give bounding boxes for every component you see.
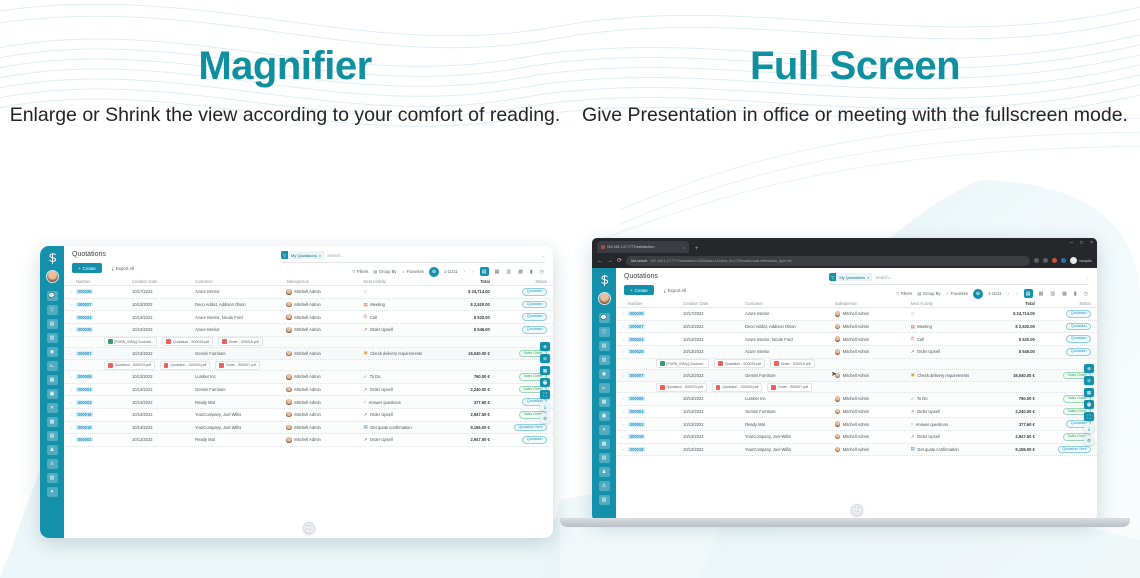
activity-view-button[interactable]: ◷ (539, 269, 545, 275)
bookmark-star-icon[interactable] (1034, 258, 1039, 263)
row-status: Quotation (1035, 323, 1091, 331)
attachment-chip[interactable]: [FURN_00My] Customi... (104, 337, 157, 346)
row-next-activity: ↗Order Upsell (364, 437, 441, 443)
magnifier-button[interactable]: ⊕ (973, 289, 983, 299)
row-number-link[interactable]: S00018 (76, 425, 93, 430)
row-customer: Azure Interior, Nicole Ford (745, 337, 835, 342)
sidebar-item-recruitment[interactable]: ♙ (47, 459, 58, 469)
column-status[interactable]: Status (490, 279, 547, 284)
favorites-label: Favorites (407, 269, 424, 274)
create-button-label: Create (635, 288, 648, 293)
row-creation-date: 10/17/2022 (132, 289, 195, 294)
attachment-chip[interactable]: Quotation - S00025.pdf (162, 337, 213, 346)
list-view-button[interactable]: ▤ (1024, 289, 1033, 298)
sidebar-item-employees[interactable]: ♟ (47, 445, 58, 455)
row-number-link[interactable]: S00018 (628, 447, 645, 452)
row-salesperson: Mitchell Admin (286, 425, 363, 431)
search-facet[interactable]: ▽ My Quotations × (281, 251, 324, 259)
table-row[interactable]: ○S0001910/13/2022YourCompany, Joel Willi… (64, 409, 553, 422)
search-input[interactable]: Search... (875, 275, 1082, 280)
column-next-activity[interactable]: Next Activity (364, 279, 441, 284)
minimize-icon[interactable]: ─ (1070, 240, 1074, 246)
crm-icon: ✕ (50, 405, 54, 411)
table-row[interactable]: ○S0002510/13/2022Azure InteriorMitchell … (616, 346, 1097, 359)
filters-label: Filters (901, 291, 912, 296)
row-number-link[interactable]: S00002 (76, 437, 93, 442)
export-all-label: Export All (116, 266, 135, 271)
column-salesperson[interactable]: Salesperson (286, 279, 363, 284)
table-row[interactable]: ○S0000410/13/2022Gemini FurnitureMitchel… (616, 406, 1097, 419)
browser-extensions: Incognito (1034, 257, 1092, 264)
table-row[interactable]: ○S0000310/13/2022Ready MatMitchell Admin… (64, 396, 553, 409)
answer-icon: ? (364, 400, 366, 405)
star-icon: ☆ (946, 291, 950, 296)
filter-icon: ▽ (829, 275, 836, 280)
zoom-in-tool[interactable]: ⊕ (540, 342, 550, 351)
attachment-chip[interactable]: [FURN_00My] Customi... (656, 359, 709, 368)
filter-icon: ▽ (281, 253, 288, 258)
column-creation-date[interactable]: Creation Date (132, 279, 195, 284)
sidebar-item-website[interactable]: ▩ (599, 439, 610, 449)
create-button[interactable]: + Create (72, 263, 102, 273)
row-salesperson: Mitchell Admin (286, 412, 363, 418)
search-row: ▽ My Quotations × Search... ⌄ (829, 273, 1089, 285)
salesperson-name: Mitchell Admin (843, 396, 869, 401)
heading-subtitle-fullscreen: Give Presentation in office or meeting w… (570, 102, 1140, 130)
table-row[interactable]: ○S0002710/13/2022Deco Addict, Addison Ol… (64, 299, 553, 312)
attachment-chip[interactable]: Order - S00015.pdf (770, 359, 814, 368)
attachment-chip[interactable]: Order - S00015.pdf (218, 337, 262, 346)
filter-icon: ▽ (352, 269, 355, 274)
sidebar-item-purchase[interactable]: ▤ (47, 431, 58, 441)
row-creation-date: 10/13/2022 (132, 315, 195, 320)
print-tool[interactable]: 🖶 (540, 378, 550, 387)
fullscreen-fab-right[interactable]: ⛶ (851, 504, 863, 516)
attachment-chip[interactable]: Quotation - S00025.pdf (714, 359, 765, 368)
upsell-icon: ↗ (364, 327, 368, 333)
address-bar-url: 192.168.1.47:7777/web#action=282&cids=1&… (650, 259, 791, 263)
pdf-file-icon (716, 385, 721, 390)
column-total[interactable]: Total (986, 301, 1034, 306)
forward-icon[interactable]: → (607, 258, 613, 264)
filters-button[interactable]: ▽ Filters (352, 269, 368, 274)
pdf-file-icon (660, 385, 665, 390)
grid-tool[interactable]: ▦ (540, 366, 550, 375)
row-number: S00025 (76, 327, 132, 332)
settings-tool[interactable]: ⚙ (540, 414, 550, 423)
row-total: 760.00 € (986, 396, 1034, 401)
export-all-button[interactable]: ⤓ Export All (660, 285, 691, 295)
group-by-label: Group By (379, 269, 397, 274)
confirm-icon: ▤ (364, 424, 368, 430)
sidebar-item-purchase[interactable]: ▤ (599, 453, 610, 463)
row-customer: Azure Interior (745, 349, 835, 354)
activity-label: To Do (370, 374, 381, 379)
column-creation-date[interactable]: Creation Date (683, 301, 745, 306)
row-number-link[interactable]: S00024 (76, 315, 93, 320)
row-salesperson: Mitchell Admin (286, 302, 363, 308)
sidebar-item-helpdesk[interactable]: ▨ (47, 473, 58, 483)
sidebar-item-calendar[interactable]: ▤ (599, 341, 610, 351)
row-number-link[interactable]: S00026 (76, 289, 93, 294)
group-by-button[interactable]: ▤ Group By (373, 269, 396, 274)
avatar[interactable] (46, 270, 59, 283)
row-next-activity: ↗Order Upsell (364, 327, 441, 333)
salesperson-name: Mitchell Admin (294, 289, 320, 294)
calendar-view-button[interactable]: ▥ (505, 269, 512, 275)
fullscreen-tool[interactable]: ⛶ (540, 390, 550, 399)
column-status[interactable]: Status (1035, 301, 1091, 306)
contacts-icon: ▥ (602, 357, 607, 363)
purchase-icon: ▤ (602, 455, 607, 461)
row-next-activity: ?Answer questions (364, 400, 441, 405)
attachment-label: [FURN_00My] Customi... (115, 340, 154, 344)
window-controls: ─ □ × (1070, 240, 1094, 246)
extension-icon[interactable] (1061, 258, 1066, 263)
avatar (835, 336, 841, 342)
pivot-view-button[interactable]: ▩ (517, 269, 524, 275)
website-icon: ▩ (602, 441, 607, 447)
upsell-icon: ↗ (911, 349, 915, 355)
attachment-chip[interactable]: Quotation - S00015.pdf (160, 361, 211, 370)
sidebar-item-website[interactable]: ▩ (47, 417, 58, 427)
tablet-mockup-magnifier: 💬 ▽ ▤ ▥ ◉ ⊾ ▦ ▣ ✕ ▩ ▤ ♟ ♙ ▨ ✦ Quotations… (40, 246, 553, 538)
row-total: $ 24,714.00 (986, 311, 1034, 316)
extension-icon[interactable] (1043, 258, 1048, 263)
sidebar-item-recruitment[interactable]: ♙ (599, 481, 610, 491)
table-row[interactable]: ○S0002610/17/2022Azure InteriorMitchell … (64, 286, 553, 299)
column-salesperson[interactable]: Salesperson (835, 301, 911, 306)
search-row: ▽ My Quotations × Search... ⌄ (281, 251, 545, 263)
row-status: Quotation (490, 313, 547, 321)
table-row[interactable]: ○S0000310/13/2022Ready MatMitchell Admin… (616, 418, 1097, 431)
close-icon[interactable]: × (1090, 240, 1093, 246)
row-number: S00018 (628, 447, 683, 452)
row-salesperson: Mitchell Admin (835, 434, 911, 440)
status-badge: Quotation Sent (1058, 446, 1091, 454)
address-bar[interactable]: Not secure 192.168.1.47:7777/web#action=… (626, 256, 1030, 266)
graph-view-button[interactable]: ▮ (1073, 291, 1078, 297)
zoom-out-tool[interactable]: ⊖ (1084, 376, 1094, 385)
invoicing-icon: ▣ (602, 413, 607, 419)
headings-row: Magnifier Enlarge or Shrink the view acc… (0, 0, 1140, 200)
row-number: S00026 (76, 289, 132, 294)
row-customer: Gemini Furniture (195, 387, 286, 392)
table-row[interactable]: ○S0002410/13/2022Azure Interior, Nicole … (616, 333, 1097, 346)
row-customer: Ready Mat (195, 437, 286, 442)
column-number[interactable]: Number (628, 301, 683, 306)
export-all-button[interactable]: ⤓ Export All (108, 263, 139, 273)
row-salesperson: Mitchell Admin (835, 373, 911, 379)
crm-icon: ✕ (602, 427, 606, 433)
row-status: Quotation (490, 301, 547, 309)
group-icon: ▤ (373, 269, 377, 274)
create-button[interactable]: + Create (624, 285, 654, 295)
row-number-link[interactable]: S00024 (628, 337, 645, 342)
row-number-link[interactable]: S00027 (628, 324, 645, 329)
sidebar-item-filter[interactable]: ▽ (599, 327, 610, 337)
answer-icon: ? (911, 422, 913, 427)
row-creation-date: 10/13/2022 (132, 400, 195, 405)
pager-prev-button[interactable]: ‹ (463, 269, 467, 274)
row-number-link[interactable]: S00025 (628, 349, 645, 354)
sidebar-item-invoicing[interactable]: ▣ (47, 389, 58, 399)
table-row[interactable]: ○S0001810/13/2022YourCompany, Joel Willi… (64, 422, 553, 435)
row-creation-date: 10/13/2022 (683, 409, 745, 414)
row-number-link[interactable]: S00007 (76, 351, 93, 356)
sidebar-item-helpdesk[interactable]: ▨ (599, 495, 610, 505)
row-number-link[interactable]: S00003 (628, 422, 645, 427)
row-number-link[interactable]: S00003 (76, 400, 93, 405)
view-toolbar: ▽ Filters ▤ Group By ☆ Favorites ⊕ 1-11/… (281, 267, 545, 277)
kanban-view-button[interactable]: ▦ (494, 269, 501, 275)
column-number[interactable]: Number (76, 279, 132, 284)
table-body-left: ○S0002610/17/2022Azure InteriorMitchell … (64, 286, 553, 447)
close-icon[interactable]: × (319, 253, 321, 258)
activity-label: Meeting (917, 324, 932, 329)
row-total: 2,947.50 € (441, 412, 490, 417)
browser-tab[interactable]: 192.168.1.47:7777/web#action= × (597, 241, 689, 253)
favorites-button[interactable]: ☆ Favorites (946, 291, 969, 296)
salesperson-name: Mitchell Admin (843, 447, 869, 452)
meeting-icon: ▤ (364, 302, 368, 308)
sidebar-item-calendar[interactable]: ▤ (47, 319, 58, 329)
list-view-button[interactable]: ▤ (480, 267, 489, 276)
row-number-link[interactable]: S00007 (628, 373, 645, 378)
sidebar-item-settings[interactable]: ◉ (47, 347, 58, 357)
salesperson-name: Mitchell Admin (843, 337, 869, 342)
fullscreen-fab-left[interactable]: ⛶ (303, 522, 315, 534)
row-number-link[interactable]: S00004 (628, 409, 645, 414)
grid-tool[interactable]: ▦ (1084, 388, 1094, 397)
reload-icon[interactable]: ⟳ (617, 257, 622, 264)
row-number-link[interactable]: S00025 (76, 327, 93, 332)
table-row[interactable]: ○S0000710/13/2022Gemini FurnitureMitchel… (616, 370, 1097, 383)
avatar[interactable] (598, 292, 611, 305)
apps-icon: ✦ (50, 489, 54, 495)
column-next-activity[interactable]: Next Activity (911, 301, 987, 306)
salesperson-name: Mitchell Admin (294, 327, 320, 332)
favicon-icon (601, 245, 605, 249)
row-number: S00018 (76, 425, 132, 430)
answer-icon: ▣ (364, 350, 368, 356)
row-next-activity: ✓To Do (364, 374, 441, 380)
row-number-link[interactable]: S00006 (628, 396, 645, 401)
avatar (835, 396, 841, 402)
table-row[interactable]: ○S0002410/13/2022Azure Interior, Nicole … (64, 311, 553, 324)
row-salesperson: Mitchell Admin (835, 409, 911, 415)
attachment-chip[interactable]: Quotation - S00023.pdf (656, 383, 707, 392)
row-next-activity: ◷ (911, 311, 987, 317)
table-row[interactable]: ○S0000410/13/2022Gemini FurnitureMitchel… (64, 384, 553, 397)
activity-label: To Do (917, 396, 928, 401)
row-status: Quotation Sent (490, 424, 547, 432)
helpdesk-icon: ▨ (50, 475, 55, 481)
row-total: $ 2,520.00 (441, 302, 490, 307)
table-row[interactable]: ○S0002510/13/2022Azure InteriorMitchell … (64, 324, 553, 337)
salesperson-name: Mitchell Admin (843, 434, 869, 439)
plus-icon: + (630, 288, 633, 293)
row-number-link[interactable]: S00027 (76, 302, 93, 307)
row-status: Sales Order (490, 411, 547, 419)
calendar-view-button[interactable]: ▥ (1049, 291, 1056, 297)
sidebar-item-filter[interactable]: ▽ (47, 305, 58, 315)
sidebar-item-messages[interactable]: 💬 (599, 313, 610, 323)
row-customer: YourCompany, Joel Willis (745, 434, 835, 439)
row-salesperson: Mitchell Admin (835, 324, 911, 330)
pdf-file-icon (219, 363, 224, 368)
table-row[interactable]: ○S0001910/13/2022YourCompany, Joel Willi… (616, 431, 1097, 444)
table-row[interactable]: ○S0002610/17/2022Azure InteriorMitchell … (616, 308, 1097, 321)
row-next-activity: ▣Check delivery requirements (364, 350, 441, 356)
row-status: Sales Order (490, 386, 547, 394)
export-tool[interactable]: ⤓ (540, 402, 550, 411)
print-tool[interactable]: 🖶 (1084, 400, 1094, 409)
close-icon[interactable]: × (867, 275, 869, 280)
sidebar-item-reports[interactable]: ⊾ (47, 361, 58, 371)
sidebar-item-employees[interactable]: ♟ (599, 467, 610, 477)
back-icon[interactable]: ← (597, 258, 603, 264)
maximize-icon[interactable]: □ (1080, 240, 1083, 246)
fullscreen-tool[interactable]: ⛶ (1084, 412, 1094, 421)
inventory-icon: ▦ (50, 377, 55, 383)
table-row[interactable]: ○S0000210/13/2022Ready MatMitchell Admin… (64, 434, 553, 447)
employees-icon: ♟ (602, 469, 606, 475)
row-number: S00004 (76, 387, 132, 392)
employees-icon: ♟ (50, 447, 54, 453)
new-tab-button[interactable]: + (691, 246, 703, 253)
settings-tool[interactable]: ⚙ (1084, 436, 1094, 445)
export-tool[interactable]: ⤓ (1084, 424, 1094, 433)
profile-chip[interactable]: Incognito (1070, 257, 1092, 264)
filters-label: Filters (357, 269, 368, 274)
kanban-view-button[interactable]: ▦ (1038, 291, 1045, 297)
extension-icon[interactable] (1052, 258, 1057, 263)
sidebar-item-crm[interactable]: ✕ (47, 403, 58, 413)
search-input[interactable]: Search... (327, 253, 538, 258)
sidebar-item-apps[interactable]: ✦ (47, 487, 58, 497)
row-salesperson: Mitchell Admin (835, 396, 911, 402)
row-number-link[interactable]: S00019 (76, 412, 93, 417)
row-total: $ 520.00 (441, 315, 490, 320)
sidebar-item-settings[interactable]: ◉ (599, 369, 610, 379)
row-creation-date: 10/13/2022 (132, 387, 195, 392)
attachment-chip[interactable]: Quotation - S00015.pdf (712, 383, 763, 392)
sidebar-item-messages[interactable]: 💬 (47, 291, 58, 301)
table-row[interactable]: ○S0000610/13/2022Lumber IncMitchell Admi… (616, 393, 1097, 406)
row-customer: Azure Interior, Nicole Ford (195, 315, 286, 320)
sidebar-item-reports[interactable]: ⊾ (599, 383, 610, 393)
zoom-in-tool[interactable]: ⊕ (1084, 364, 1094, 373)
pdf-file-icon (222, 339, 227, 344)
reports-icon: ⊾ (602, 385, 606, 391)
activity-view-button[interactable]: ◷ (1083, 291, 1089, 297)
avatar (835, 349, 841, 355)
sidebar-item-inventory[interactable]: ▦ (599, 397, 610, 407)
chevron-down-icon[interactable]: ⌄ (1086, 275, 1089, 280)
column-customer[interactable]: Customer (195, 279, 286, 284)
magnifier-button[interactable]: ⊕ (429, 267, 439, 277)
chevron-down-icon[interactable]: ⌄ (542, 253, 545, 258)
close-icon[interactable]: × (683, 245, 685, 250)
filters-button[interactable]: ▽ Filters (896, 291, 912, 296)
attachment-label: Order - S00007.pdf (226, 363, 256, 367)
status-badge: Quotation (522, 436, 547, 444)
attachment-label: Quotation - S00023.pdf (667, 385, 703, 389)
download-icon: ⤓ (664, 288, 666, 293)
attachment-label: Order - S00015.pdf (781, 362, 811, 366)
floating-toolbar-left: ⊕ ⊖ ▦ 🖶 ⛶ ⤓ ⚙ (540, 342, 550, 423)
sidebar-item-contacts[interactable]: ▥ (599, 355, 610, 365)
row-salesperson: Mitchell Admin (286, 327, 363, 333)
attachment-label: Quotation - S00025.pdf (173, 340, 209, 344)
search-facet[interactable]: ▽ My Quotations × (829, 273, 872, 281)
sidebar-item-invoicing[interactable]: ▣ (599, 411, 610, 421)
view-toolbar: ▽ Filters ▤ Group By ☆ Favorites ⊕ 1-11/… (829, 289, 1089, 299)
pager-next-button[interactable]: › (471, 269, 475, 274)
table-row[interactable]: ○S0000610/13/2022Lumber IncMitchell Admi… (64, 371, 553, 384)
download-icon: ⤓ (112, 266, 114, 271)
pager-next-button[interactable]: › (1015, 291, 1019, 296)
row-salesperson: Mitchell Admin (835, 311, 911, 317)
status-badge: Quotation (1066, 348, 1091, 356)
favorites-button[interactable]: ☆ Favorites (402, 269, 425, 274)
attachment-chip[interactable]: Order - S00007.pdf (215, 361, 259, 370)
table-row[interactable]: ○S0002710/13/2022Deco Addict, Addison Ol… (616, 321, 1097, 334)
attachment-label: [FURN_00My] Customi... (667, 362, 706, 366)
attachment-chip[interactable]: Order - S00007.pdf (767, 383, 811, 392)
column-total[interactable]: Total (441, 279, 490, 284)
row-next-activity: ?Answer questions (911, 422, 987, 427)
upsell-icon: ↗ (911, 409, 915, 415)
zoom-out-tool[interactable]: ⊖ (540, 354, 550, 363)
graph-view-button[interactable]: ▮ (529, 269, 534, 275)
row-number-link[interactable]: S00006 (76, 374, 93, 379)
pager-prev-button[interactable]: ‹ (1007, 291, 1011, 296)
row-number-link[interactable]: S00026 (628, 311, 645, 316)
settings-icon: ◉ (602, 371, 606, 377)
row-number: S00007 (628, 373, 683, 378)
row-status: Quotation (490, 326, 547, 334)
row-number: S00026 (628, 311, 683, 316)
activity-label: Order Upsell (370, 327, 393, 332)
table-row[interactable]: ○S0001810/13/2022YourCompany, Joel Willi… (616, 444, 1097, 457)
row-number-link[interactable]: S00004 (76, 387, 93, 392)
row-total: 9,155.00 € (986, 447, 1034, 452)
pager-text: 1-11/11 (988, 291, 1002, 296)
salesperson-name: Mitchell Admin (843, 373, 869, 378)
row-number: S00003 (628, 422, 683, 427)
upsell-icon: ↗ (364, 437, 368, 443)
row-number-link[interactable]: S00019 (628, 434, 645, 439)
sidebar-item-contacts[interactable]: ▥ (47, 333, 58, 343)
column-customer[interactable]: Customer (745, 301, 835, 306)
sidebar-item-crm[interactable]: ✕ (599, 425, 610, 435)
row-customer: Lumber Inc (195, 374, 286, 379)
sidebar-item-inventory[interactable]: ▦ (47, 375, 58, 385)
row-status: Sales Order (1035, 395, 1091, 403)
app-sidebar-left: 💬 ▽ ▤ ▥ ◉ ⊾ ▦ ▣ ✕ ▩ ▤ ♟ ♙ ▨ ✦ (40, 246, 64, 538)
row-customer: Gemini Furniture (745, 373, 835, 378)
table-row[interactable]: ○S0000710/13/2022Gemini FurnitureMitchel… (64, 348, 553, 361)
confirm-icon: ▤ (911, 446, 915, 452)
row-next-activity: ✆Call (364, 314, 441, 320)
attachment-chip[interactable]: Quotation - S00023.pdf (104, 361, 155, 370)
row-total: 2,240.00 € (986, 409, 1034, 414)
pivot-view-button[interactable]: ▩ (1061, 291, 1068, 297)
group-by-button[interactable]: ▤ Group By (917, 291, 940, 296)
browser-tab-title: 192.168.1.47:7777/web#action= (607, 245, 655, 249)
